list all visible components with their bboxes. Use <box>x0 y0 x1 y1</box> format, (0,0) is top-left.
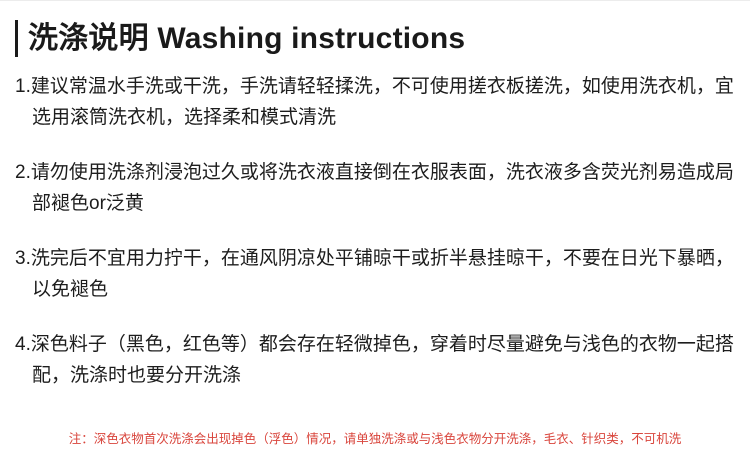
page-title: 洗涤说明 Washing instructions <box>28 20 465 57</box>
list-item: 4.深色料子（黑色，红色等）都会存在轻微掉色，穿着时尽量避免与浅色的衣物一起搭配… <box>15 329 737 391</box>
instruction-list: 1.建议常温水手洗或干洗，手洗请轻轻揉洗，不可使用搓衣板搓洗，如使用洗衣机，宜选… <box>15 71 737 391</box>
list-item: 1.建议常温水手洗或干洗，手洗请轻轻揉洗，不可使用搓衣板搓洗，如使用洗衣机，宜选… <box>15 71 737 133</box>
footnote-warning: 注：深色衣物首次洗涤会出现掉色（浮色）情况，请单独洗涤或与浅色衣物分开洗涤，毛衣… <box>0 430 750 448</box>
page-title-row: 洗涤说明 Washing instructions <box>15 18 465 58</box>
title-accent-bar <box>15 20 18 57</box>
list-item: 2.请勿使用洗涤剂浸泡过久或将洗衣液直接倒在衣服表面，洗衣液多含荧光剂易造成局部… <box>15 157 737 219</box>
washing-instructions-page: 洗涤说明 Washing instructions 1.建议常温水手洗或干洗，手… <box>0 0 750 454</box>
list-item: 3.洗完后不宜用力拧干，在通风阴凉处平铺晾干或折半悬挂晾干，不要在日光下暴晒，以… <box>15 243 737 305</box>
